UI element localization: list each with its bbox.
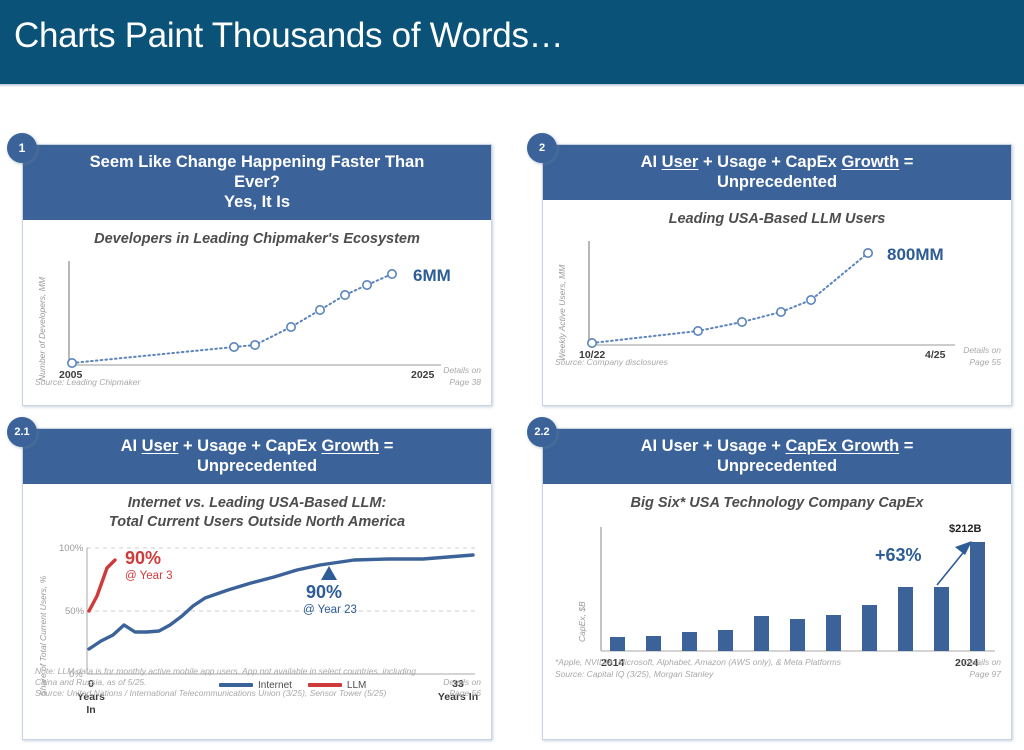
panel-2[interactable]: 2 AI User + Usage + CapEx Growth = Unpre… xyxy=(542,144,1012,406)
panel-2-1-internet-annotation-value: 90% xyxy=(306,582,342,603)
panel-2-2-end-value-label: $212B xyxy=(949,523,981,535)
panel-2-title-line2: Unprecedented xyxy=(717,173,837,191)
panel-2-body: Leading USA-Based LLM Users Weekly Activ… xyxy=(543,200,1011,373)
panel-2-1[interactable]: 2.1 AI User + Usage + CapEx Growth = Unp… xyxy=(22,428,492,740)
panel-2-2-title-a: AI User + Usage + xyxy=(641,437,786,455)
panel-2-1-llm-annotation-value: 90% xyxy=(125,548,161,569)
panel-1-end-value-label: 6MM xyxy=(413,266,451,286)
panel-1-title-line1: Seem Like Change Happening Faster Than E… xyxy=(90,153,425,191)
panel-2-2-details-ref[interactable]: Details on Page 97 xyxy=(963,657,1001,680)
panel-badge-2-2: 2.2 xyxy=(527,417,557,447)
panel-2-1-title-line2: Unprecedented xyxy=(197,457,317,475)
panel-2-1-internet-annotation-sub: @ Year 23 xyxy=(303,604,357,616)
panel-2-title-underline-1: User xyxy=(662,153,699,171)
page-title: Charts Paint Thousands of Words… xyxy=(14,16,563,56)
panel-2-2-growth-annotation: +63% xyxy=(875,545,922,566)
panel-2-1-note-and-source: Note: LLM data is for monthly active mob… xyxy=(35,666,416,700)
panel-2-2-y-axis-label: CapEx, $B xyxy=(577,601,587,642)
panel-2-2-footer: *Apple, NVIDIA, Microsoft, Alphabet, Ama… xyxy=(543,653,1011,685)
panel-2-1-header: AI User + Usage + CapEx Growth = Unprece… xyxy=(23,429,491,484)
banner-shadow xyxy=(0,84,1024,87)
panel-2-1-title-b: + Usage + CapEx xyxy=(178,437,321,455)
panel-2-1-chart-title-line1: Internet vs. Leading USA-Based LLM: xyxy=(128,495,387,511)
panel-2-1-details-ref[interactable]: Details on Page 56 xyxy=(443,677,481,700)
panel-2-title-underline-2: Growth xyxy=(841,153,899,171)
panel-2-2-body: Big Six* USA Technology Company CapEx Ca… xyxy=(543,484,1011,685)
panel-1-body: Developers in Leading Chipmaker's Ecosys… xyxy=(23,220,491,393)
panel-badge-1: 1 xyxy=(7,133,37,163)
panel-2-1-body: Internet vs. Leading USA-Based LLM: Tota… xyxy=(23,484,491,706)
panel-1-details-ref[interactable]: Details on Page 38 xyxy=(443,365,481,388)
panel-1-footer: Source: Leading Chipmaker Details on Pag… xyxy=(23,361,491,393)
panel-2-1-title-a: AI xyxy=(121,437,142,455)
panel-2-1-title-underline-2: Growth xyxy=(321,437,379,455)
panel-2-end-value-label: 800MM xyxy=(887,245,944,265)
page-header-banner: Charts Paint Thousands of Words… xyxy=(0,0,1024,84)
panel-2-1-y-tick-100: 100% xyxy=(59,543,83,554)
panel-1-source: Source: Leading Chipmaker xyxy=(35,377,140,388)
panel-2-2-title-c: = xyxy=(899,437,913,455)
panel-1-header: Seem Like Change Happening Faster Than E… xyxy=(23,145,491,220)
panel-1-chart-title: Developers in Leading Chipmaker's Ecosys… xyxy=(23,220,491,253)
panel-2-title-b: + Usage + CapEx xyxy=(698,153,841,171)
panel-2-2-header: AI User + Usage + CapEx Growth = Unprece… xyxy=(543,429,1011,484)
panel-2-chart-title: Leading USA-Based LLM Users xyxy=(543,200,1011,233)
panel-2-2-chart-title: Big Six* USA Technology Company CapEx xyxy=(543,484,1011,517)
panel-1-title-line2: Yes, It Is xyxy=(224,193,290,211)
panel-2-1-y-tick-50: 50% xyxy=(65,606,84,617)
panel-2-1-title-c: = xyxy=(379,437,393,455)
panel-2-1-chart-title-line2: Total Current Users Outside North Americ… xyxy=(109,514,405,530)
panel-2-1-llm-annotation-sub: @ Year 3 xyxy=(125,570,173,582)
panel-2-2[interactable]: 2.2 AI User + Usage + CapEx Growth = Unp… xyxy=(542,428,1012,740)
panel-2-footer: Source: Company disclosures Details on P… xyxy=(543,341,1011,373)
panel-badge-2: 2 xyxy=(527,133,557,163)
panel-2-1-chart-title: Internet vs. Leading USA-Based LLM: Tota… xyxy=(23,484,491,536)
panel-badge-2-1: 2.1 xyxy=(7,417,37,447)
panel-2-1-title-underline-1: User xyxy=(142,437,179,455)
panel-2-header: AI User + Usage + CapEx Growth = Unprece… xyxy=(543,145,1011,200)
panel-2-2-footnote-and-source: *Apple, NVIDIA, Microsoft, Alphabet, Ama… xyxy=(555,657,841,680)
panel-2-title-a: AI xyxy=(641,153,662,171)
panel-2-source: Source: Company disclosures xyxy=(555,357,668,368)
panel-2-1-footer: Note: LLM data is for monthly active mob… xyxy=(23,662,491,705)
panel-2-2-title-underline-1: CapEx Growth xyxy=(786,437,900,455)
panel-2-title-c: = xyxy=(899,153,913,171)
panel-1[interactable]: 1 Seem Like Change Happening Faster Than… xyxy=(22,144,492,406)
panel-2-details-ref[interactable]: Details on Page 55 xyxy=(963,345,1001,368)
panel-2-2-title-line2: Unprecedented xyxy=(717,457,837,475)
